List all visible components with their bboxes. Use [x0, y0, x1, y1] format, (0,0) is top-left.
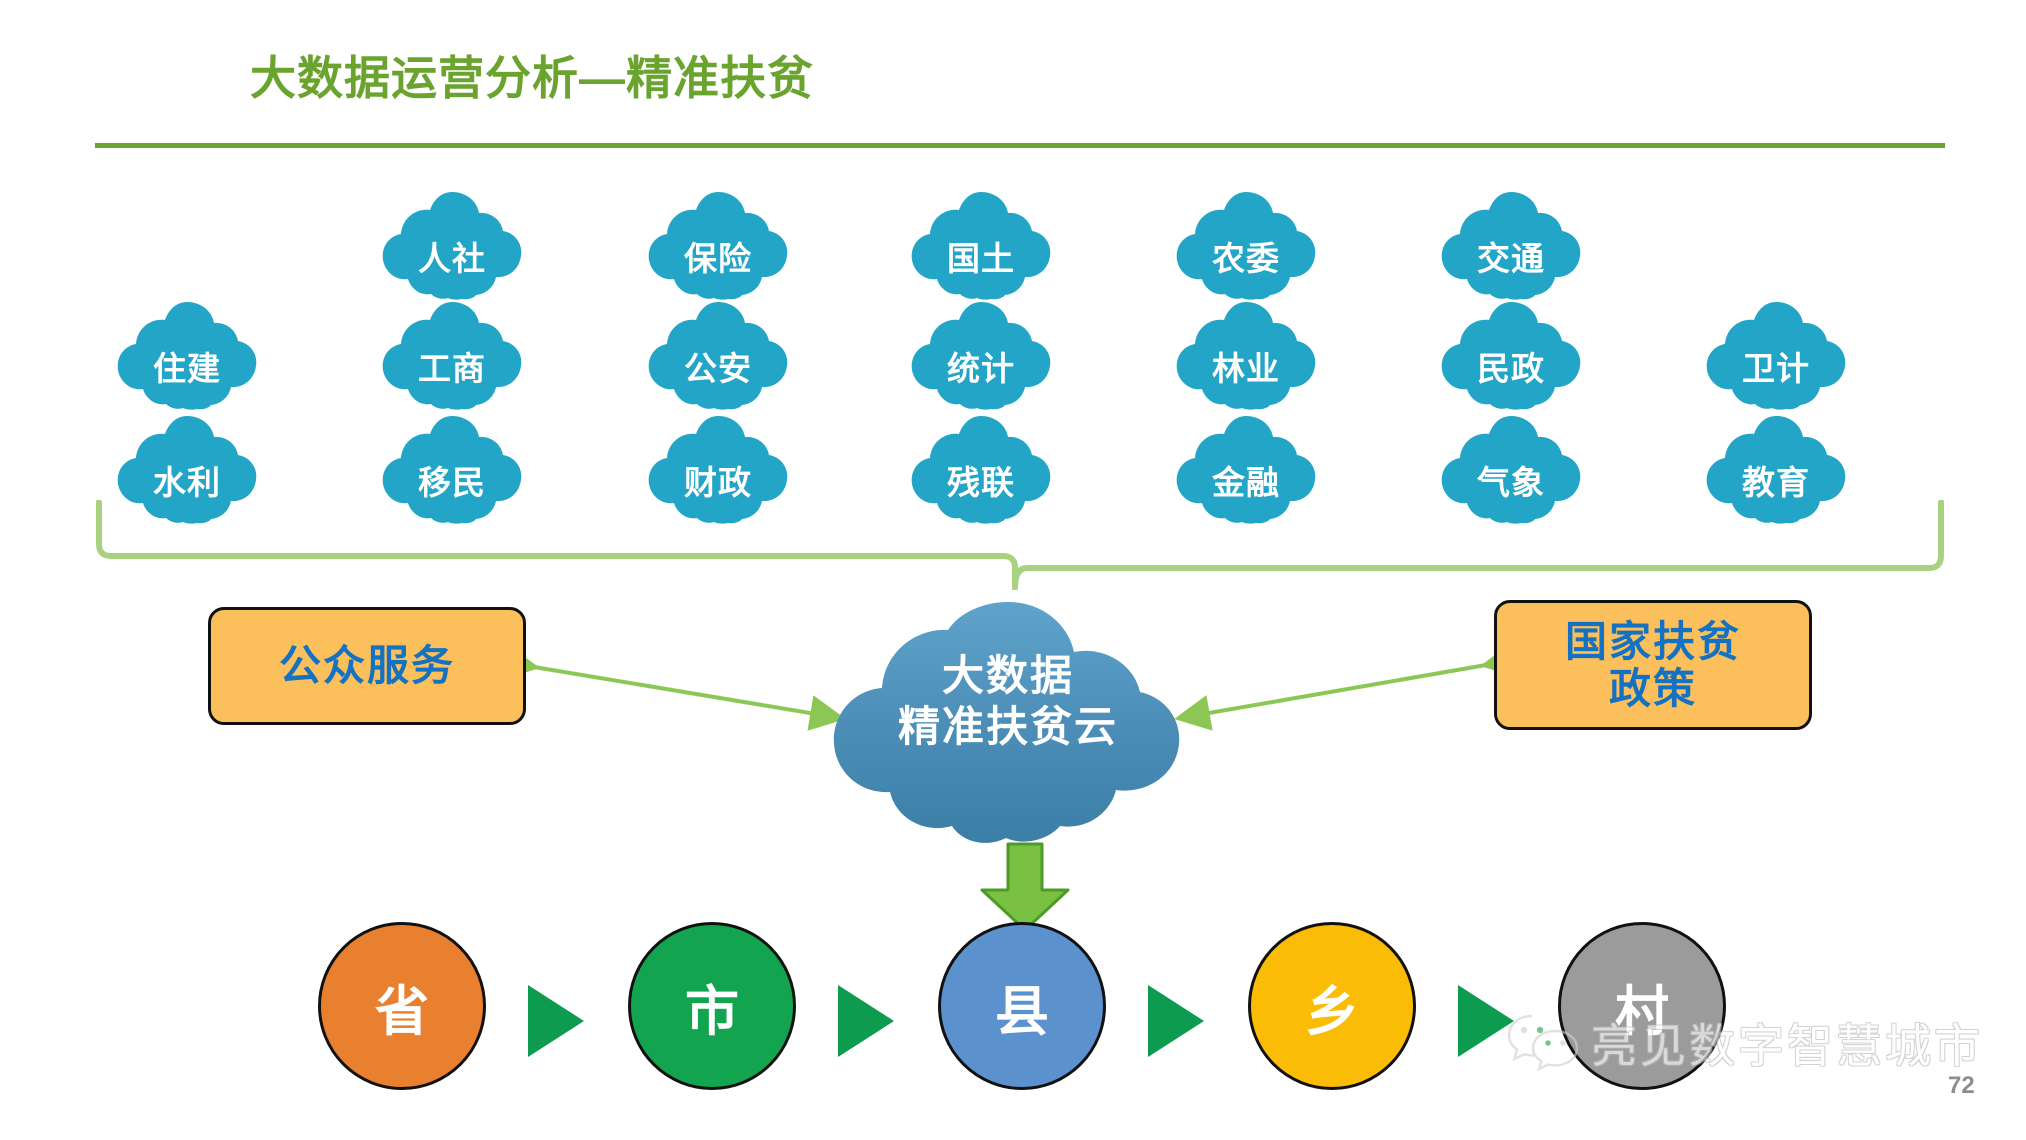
level-circle-市[interactable]: 市 — [628, 922, 796, 1090]
cloud-shape-icon — [1172, 298, 1320, 410]
department-cloud-林业[interactable]: 林业 — [1172, 298, 1320, 410]
group-brace — [95, 500, 1945, 590]
cloud-shape-icon — [1702, 298, 1850, 410]
department-cloud-工商[interactable]: 工商 — [378, 298, 526, 410]
big-data-cloud[interactable]: 大数据 精准扶贫云 — [828, 588, 1188, 848]
department-cloud-国土[interactable]: 国土 — [907, 188, 1055, 300]
level-circle-label: 省 — [375, 967, 429, 1046]
level-circle-label: 市 — [685, 967, 739, 1046]
department-cloud-保险[interactable]: 保险 — [644, 188, 792, 300]
level-arrow-2 — [838, 985, 894, 1057]
department-cloud-公安[interactable]: 公安 — [644, 298, 792, 410]
department-cloud-交通[interactable]: 交通 — [1437, 188, 1585, 300]
arrow-public-service — [534, 667, 840, 718]
page-title: 大数据运营分析—精准扶贫 — [250, 42, 814, 108]
national-policy-box[interactable]: 国家扶贫 政策 — [1494, 600, 1812, 730]
department-cloud-卫计[interactable]: 卫计 — [1702, 298, 1850, 410]
department-cloud-住建[interactable]: 住建 — [113, 298, 261, 410]
cloud-shape-icon — [644, 298, 792, 410]
cloud-shape-icon — [644, 188, 792, 300]
level-circle-label: 乡 — [1305, 967, 1359, 1046]
public-service-label: 公众服务 — [279, 642, 455, 689]
level-circle-label: 村 — [1615, 967, 1669, 1046]
page-number: 72 — [1948, 1072, 1975, 1100]
level-circle-label: 县 — [995, 967, 1049, 1046]
title-divider — [95, 143, 1945, 148]
department-cloud-农委[interactable]: 农委 — [1172, 188, 1320, 300]
level-circle-县[interactable]: 县 — [938, 922, 1106, 1090]
cloud-shape-icon — [113, 298, 261, 410]
down-arrow-icon — [978, 842, 1072, 932]
level-circle-乡[interactable]: 乡 — [1248, 922, 1416, 1090]
cloud-shape-icon — [907, 188, 1055, 300]
cloud-shape-icon — [828, 588, 1188, 848]
national-policy-label-line2: 政策 — [1565, 665, 1741, 712]
level-circle-省[interactable]: 省 — [318, 922, 486, 1090]
cloud-shape-icon — [1437, 298, 1585, 410]
national-policy-label-line1: 国家扶贫 — [1565, 618, 1741, 665]
slide-canvas: 大数据运营分析—精准扶贫 人社保险国土农委交通住建工商公安统计林业民政卫计水利移… — [0, 0, 2026, 1140]
cloud-shape-icon — [907, 298, 1055, 410]
level-arrow-1 — [528, 985, 584, 1057]
public-service-box[interactable]: 公众服务 — [208, 607, 526, 725]
arrow-national-policy — [1180, 665, 1486, 718]
cloud-shape-icon — [1172, 188, 1320, 300]
department-cloud-人社[interactable]: 人社 — [378, 188, 526, 300]
level-circle-村[interactable]: 村 — [1558, 922, 1726, 1090]
cloud-shape-icon — [378, 298, 526, 410]
level-arrow-4 — [1458, 985, 1514, 1057]
cloud-shape-icon — [1437, 188, 1585, 300]
department-cloud-统计[interactable]: 统计 — [907, 298, 1055, 410]
cloud-shape-icon — [378, 188, 526, 300]
department-cloud-民政[interactable]: 民政 — [1437, 298, 1585, 410]
level-arrow-3 — [1148, 985, 1204, 1057]
